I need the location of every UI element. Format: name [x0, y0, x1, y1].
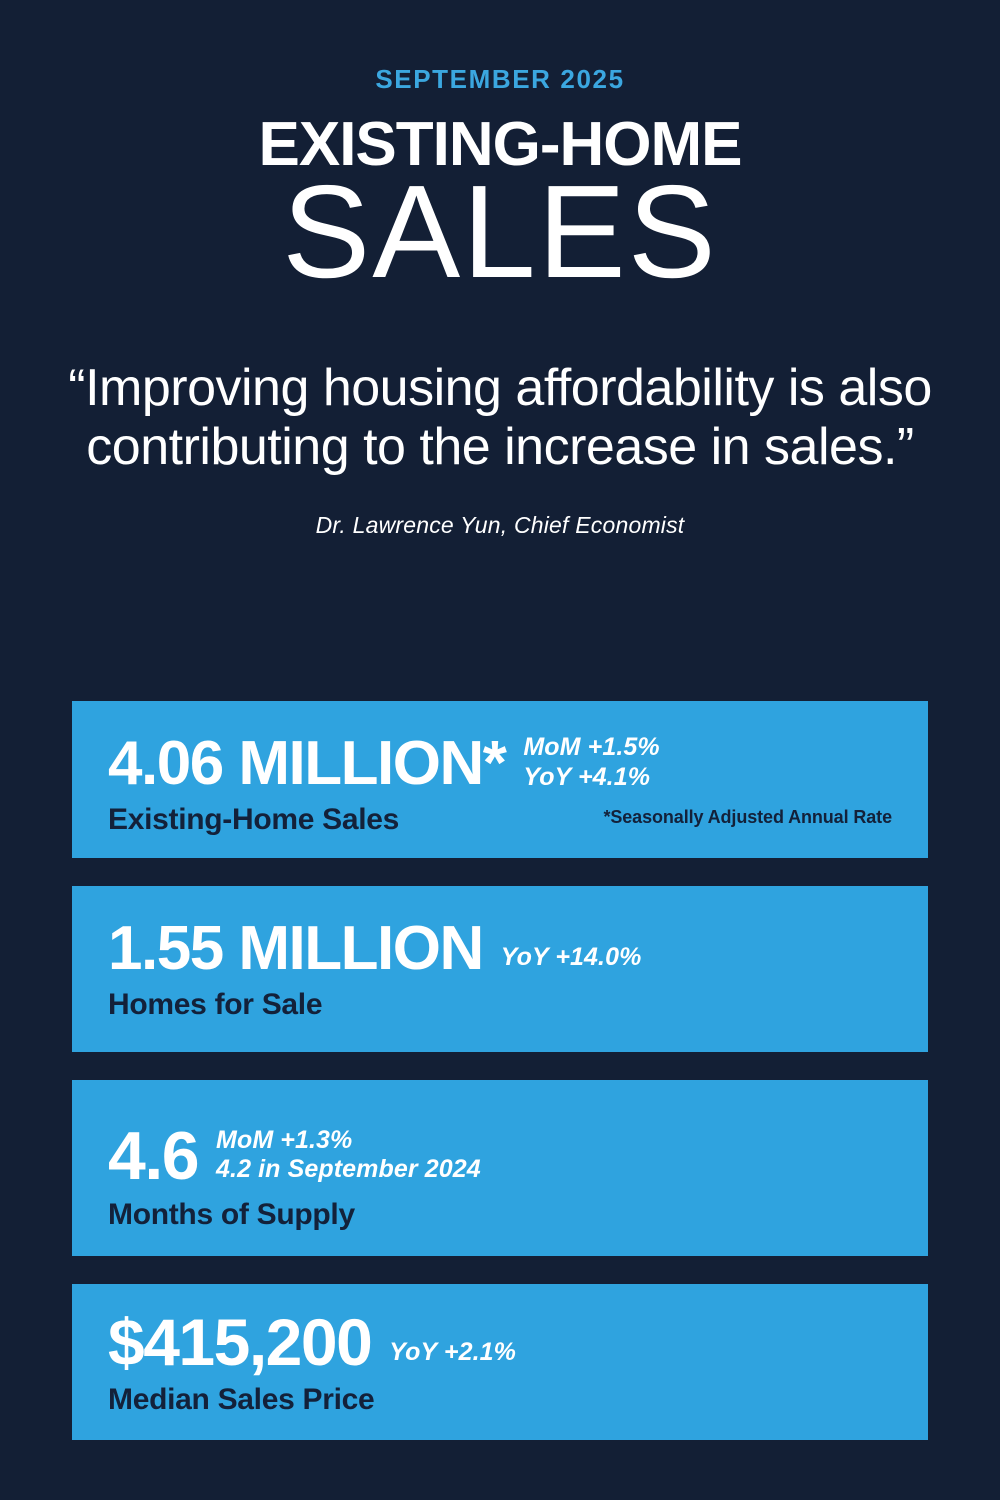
stat-card-homes-for-sale: 1.55 MILLION YoY +14.0% Homes for Sale [72, 886, 928, 1052]
stat-delta-yoy: YoY +2.1% [389, 1338, 516, 1368]
infographic-header: SEPTEMBER 2025 EXISTING-HOME SALES [0, 0, 1000, 293]
stat-card-existing-home-sales: 4.06 MILLION* MoM +1.5% YoY +4.1% Existi… [72, 701, 928, 858]
stat-value: 4.6 [108, 1122, 198, 1190]
stat-row: 4.06 MILLION* MoM +1.5% YoY +4.1% [108, 733, 892, 795]
stat-delta-mom: MoM +1.3% [216, 1126, 481, 1156]
stat-delta-yoy: YoY +4.1% [523, 763, 659, 793]
stat-label: Homes for Sale [108, 990, 892, 1020]
stat-card-months-of-supply: 4.6 MoM +1.3% 4.2 in September 2024 Mont… [72, 1080, 928, 1256]
stat-footnote: *Seasonally Adjusted Annual Rate [603, 807, 892, 828]
stat-value: $415,200 [108, 1309, 371, 1375]
quote-block: “Improving housing affordability is also… [0, 359, 1000, 540]
statistics-list: 4.06 MILLION* MoM +1.5% YoY +4.1% Existi… [72, 701, 928, 1468]
stat-value: 4.06 MILLION* [108, 733, 505, 795]
stat-delta-yoy: YoY +14.0% [501, 943, 642, 973]
stat-deltas: YoY +14.0% [501, 943, 642, 981]
stat-value: 1.55 MILLION [108, 918, 483, 980]
stat-deltas: MoM +1.3% 4.2 in September 2024 [216, 1126, 481, 1187]
stat-card-median-sales-price: $415,200 YoY +2.1% Median Sales Price [72, 1284, 928, 1440]
stat-row: $415,200 YoY +2.1% [108, 1309, 892, 1375]
stat-row: 4.6 MoM +1.3% 4.2 in September 2024 [108, 1122, 892, 1190]
stat-deltas: YoY +2.1% [389, 1338, 516, 1376]
quote-attribution: Dr. Lawrence Yun, Chief Economist [36, 512, 964, 539]
stat-delta-mom: MoM +1.5% [523, 733, 659, 763]
report-period: SEPTEMBER 2025 [0, 66, 1000, 92]
stat-deltas: MoM +1.5% YoY +4.1% [523, 733, 659, 794]
quote-text: “Improving housing affordability is also… [36, 359, 964, 479]
stat-row: 1.55 MILLION YoY +14.0% [108, 918, 892, 980]
page-title-secondary: SALES [0, 171, 1000, 292]
stat-label: Median Sales Price [108, 1385, 892, 1415]
stat-delta-prior-year: 4.2 in September 2024 [216, 1155, 481, 1185]
stat-label: Months of Supply [108, 1200, 892, 1230]
